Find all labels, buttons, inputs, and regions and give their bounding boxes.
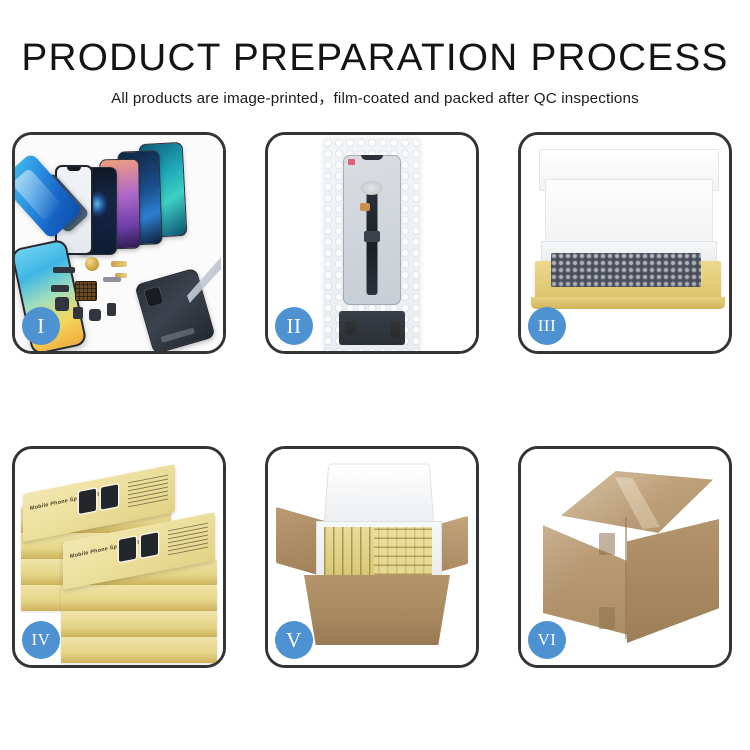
step-panel-6[interactable]: VI bbox=[518, 446, 732, 668]
part-flex-cable-icon bbox=[111, 261, 127, 267]
box-print-screen-icon bbox=[141, 532, 158, 557]
step-badge-2: II bbox=[275, 307, 313, 345]
box-spec-list-icon bbox=[128, 475, 168, 508]
steps-row-top: I bbox=[0, 132, 750, 360]
step-panel-5[interactable]: V bbox=[265, 446, 479, 668]
part-speaker-coil-icon bbox=[85, 257, 99, 271]
header: PRODUCT PREPARATION PROCESS All products… bbox=[0, 0, 750, 109]
step-badge-6: VI bbox=[528, 621, 566, 659]
carton-seam-label-top-icon bbox=[599, 533, 615, 555]
part-vibrator-icon bbox=[89, 309, 101, 321]
part-button-icon bbox=[55, 297, 69, 311]
step-badge-3: III bbox=[528, 307, 566, 345]
box-print-screen-icon bbox=[101, 484, 118, 509]
phone-notch-icon bbox=[67, 167, 81, 171]
part-camera-icon bbox=[73, 307, 83, 319]
steps-grid: I bbox=[0, 132, 750, 750]
box-spec-list-icon bbox=[168, 523, 208, 556]
bubble-wrapped-contents-icon bbox=[551, 253, 701, 287]
box-print-screen-icon bbox=[119, 537, 136, 562]
step-panel-4[interactable]: Mobile Phone Spare Parts Mobile Phone Sp… bbox=[12, 446, 226, 668]
step-panel-1[interactable]: I bbox=[12, 132, 226, 354]
step-panel-2[interactable]: II bbox=[265, 132, 479, 354]
box-print-screen-icon bbox=[79, 489, 96, 514]
connector-left-icon bbox=[360, 203, 370, 211]
part-connector-icon bbox=[51, 285, 69, 292]
product-preparation-infographic: PRODUCT PREPARATION PROCESS All products… bbox=[0, 0, 750, 750]
carton-right-face-icon bbox=[627, 519, 719, 643]
lcd-notch-icon bbox=[361, 155, 383, 160]
stacked-box bbox=[61, 611, 217, 637]
carton-left-face-icon bbox=[543, 513, 629, 635]
part-module-icon bbox=[107, 303, 116, 316]
page-subtitle: All products are image-printed，film-coat… bbox=[0, 80, 750, 109]
packed-yellow-boxes-icon bbox=[324, 527, 432, 575]
step-badge-5: V bbox=[275, 621, 313, 659]
part-strip-icon bbox=[53, 267, 75, 273]
step-panel-3[interactable]: III bbox=[518, 132, 732, 354]
foam-lid-open-icon bbox=[324, 464, 435, 526]
step-badge-1: I bbox=[22, 307, 60, 345]
step-badge-4: IV bbox=[22, 621, 60, 659]
stacked-box bbox=[61, 585, 217, 611]
part-chip-array-icon bbox=[75, 281, 97, 301]
steps-row-bottom: Mobile Phone Spare Parts Mobile Phone Sp… bbox=[0, 446, 750, 674]
red-label-icon bbox=[348, 159, 355, 165]
part-bracket-icon bbox=[103, 277, 121, 282]
sealed-carton-icon bbox=[537, 471, 719, 643]
driver-ic-icon bbox=[364, 231, 380, 242]
lcd-bottom-flex-icon bbox=[339, 311, 405, 345]
page-title: PRODUCT PREPARATION PROCESS bbox=[0, 0, 750, 80]
carton-body-icon bbox=[304, 575, 450, 645]
bubble-wrap-sleeve-icon bbox=[324, 139, 420, 351]
carton-corner-seam-icon bbox=[625, 517, 627, 639]
stacked-box bbox=[61, 637, 217, 663]
carton-seam-label-bottom-icon bbox=[599, 607, 615, 629]
